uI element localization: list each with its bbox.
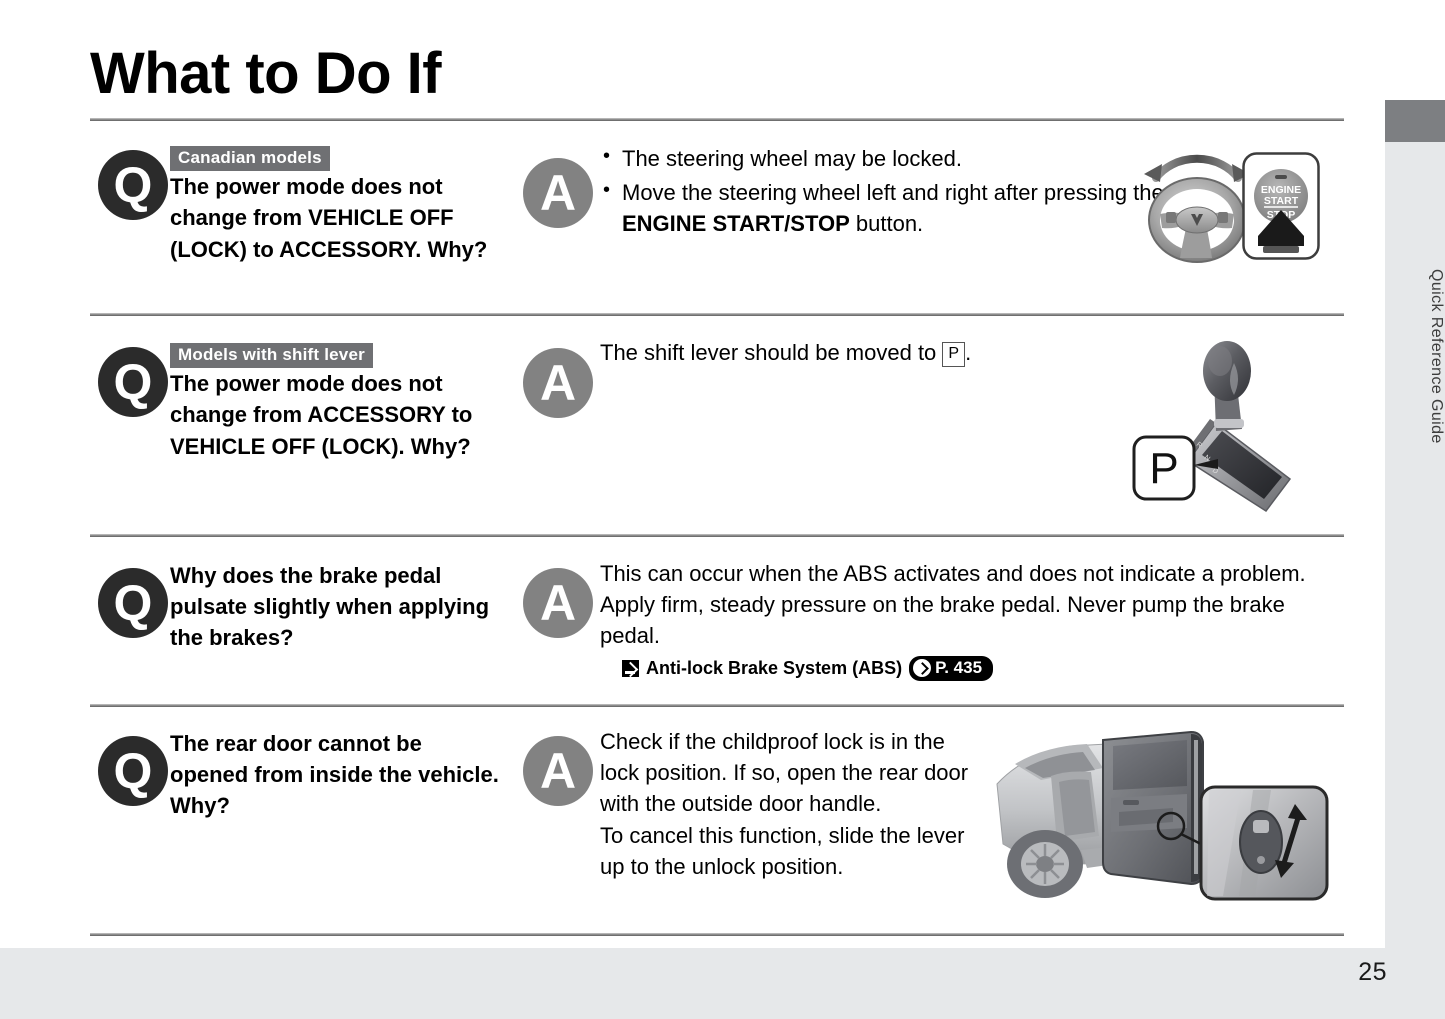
answer-bullet2-bold: ENGINE START/STOP bbox=[622, 211, 850, 236]
steering-wheel-illustration bbox=[1142, 148, 1252, 268]
section-divider-4 bbox=[90, 704, 1344, 707]
question-badge: Q bbox=[98, 568, 168, 638]
reference-arrow-icon bbox=[622, 660, 639, 677]
answer-text-2-pre: The shift lever should be moved to bbox=[600, 340, 942, 365]
answer-text-4-line1: Check if the childproof lock is in the l… bbox=[600, 726, 975, 820]
page-reference-pill[interactable]: P. 435 bbox=[909, 656, 993, 681]
answer-block-1: The steering wheel may be locked. Move t… bbox=[600, 143, 1200, 243]
question-block-2: Models with shift lever The power mode d… bbox=[170, 337, 500, 462]
arrow-right-circle-icon bbox=[913, 659, 931, 677]
side-tab-label: Quick Reference Guide bbox=[1385, 146, 1445, 566]
answer-text-3: This can occur when the ABS activates an… bbox=[600, 558, 1330, 652]
answer-bullet-list: The steering wheel may be locked. Move t… bbox=[600, 143, 1200, 240]
section-divider-5 bbox=[90, 933, 1344, 936]
answer-text-2-post: . bbox=[965, 340, 971, 365]
section-divider-3 bbox=[90, 534, 1344, 537]
model-badge-1: Canadian models bbox=[170, 146, 330, 171]
question-text-1: The power mode does not change from VEHI… bbox=[170, 174, 487, 261]
svg-text:P: P bbox=[1149, 444, 1178, 493]
answer-block-3: This can occur when the ABS activates an… bbox=[600, 558, 1330, 681]
shift-position-p-box: P bbox=[942, 342, 965, 367]
svg-text:START: START bbox=[1264, 195, 1299, 207]
section-divider-2 bbox=[90, 313, 1344, 316]
cross-reference-3[interactable]: Anti-lock Brake System (ABS) P. 435 bbox=[600, 656, 1330, 682]
model-badge-2: Models with shift lever bbox=[170, 343, 373, 368]
qa-row-1: Q A Canadian models The power mode does … bbox=[90, 140, 1344, 310]
page-reference-text: P. 435 bbox=[935, 658, 982, 678]
list-item: The steering wheel may be locked. bbox=[622, 143, 1200, 174]
question-block-1: Canadian models The power mode does not … bbox=[170, 140, 500, 265]
answer-bullet2-post: button. bbox=[850, 211, 923, 236]
question-text-2: The power mode does not change from ACCE… bbox=[170, 371, 472, 458]
question-badge: Q bbox=[98, 736, 168, 806]
engine-start-stop-illustration: ENGINE START STOP bbox=[1242, 152, 1320, 260]
rear-door-childproof-lock-illustration bbox=[995, 724, 1333, 906]
question-text-3: Why does the brake pedal pulsate slightl… bbox=[170, 560, 500, 654]
page-title: What to Do If bbox=[90, 44, 441, 105]
answer-badge: A bbox=[523, 158, 593, 228]
question-badge: Q bbox=[98, 347, 168, 417]
qa-row-2: Q A Models with shift lever The power mo… bbox=[90, 337, 1344, 527]
answer-bullet2-pre: Move the steering wheel left and right a… bbox=[622, 180, 1164, 205]
answer-text-4-line2: To cancel this function, slide the lever… bbox=[600, 820, 975, 882]
side-tab-cap bbox=[1385, 100, 1445, 142]
footer-band bbox=[0, 948, 1445, 1019]
cross-reference-label: Anti-lock Brake System (ABS) bbox=[646, 656, 902, 682]
page-number: 25 bbox=[1358, 958, 1387, 987]
manual-page: Quick Reference Guide What to Do If Q A … bbox=[0, 0, 1445, 1019]
answer-badge: A bbox=[523, 348, 593, 418]
answer-badge: A bbox=[523, 568, 593, 638]
question-text-4: The rear door cannot be opened from insi… bbox=[170, 728, 500, 822]
question-badge: Q bbox=[98, 150, 168, 220]
list-item: Move the steering wheel left and right a… bbox=[622, 177, 1200, 239]
answer-badge: A bbox=[523, 736, 593, 806]
qa-row-3: Q A Why does the brake pedal pulsate sli… bbox=[90, 558, 1344, 688]
answer-block-2: The shift lever should be moved to P. bbox=[600, 337, 1160, 368]
qa-row-4: Q A The rear door cannot be opened from … bbox=[90, 726, 1344, 926]
shift-lever-illustration: R N D P bbox=[1130, 333, 1330, 523]
section-divider-1 bbox=[90, 118, 1344, 121]
answer-block-4: Check if the childproof lock is in the l… bbox=[600, 726, 975, 882]
